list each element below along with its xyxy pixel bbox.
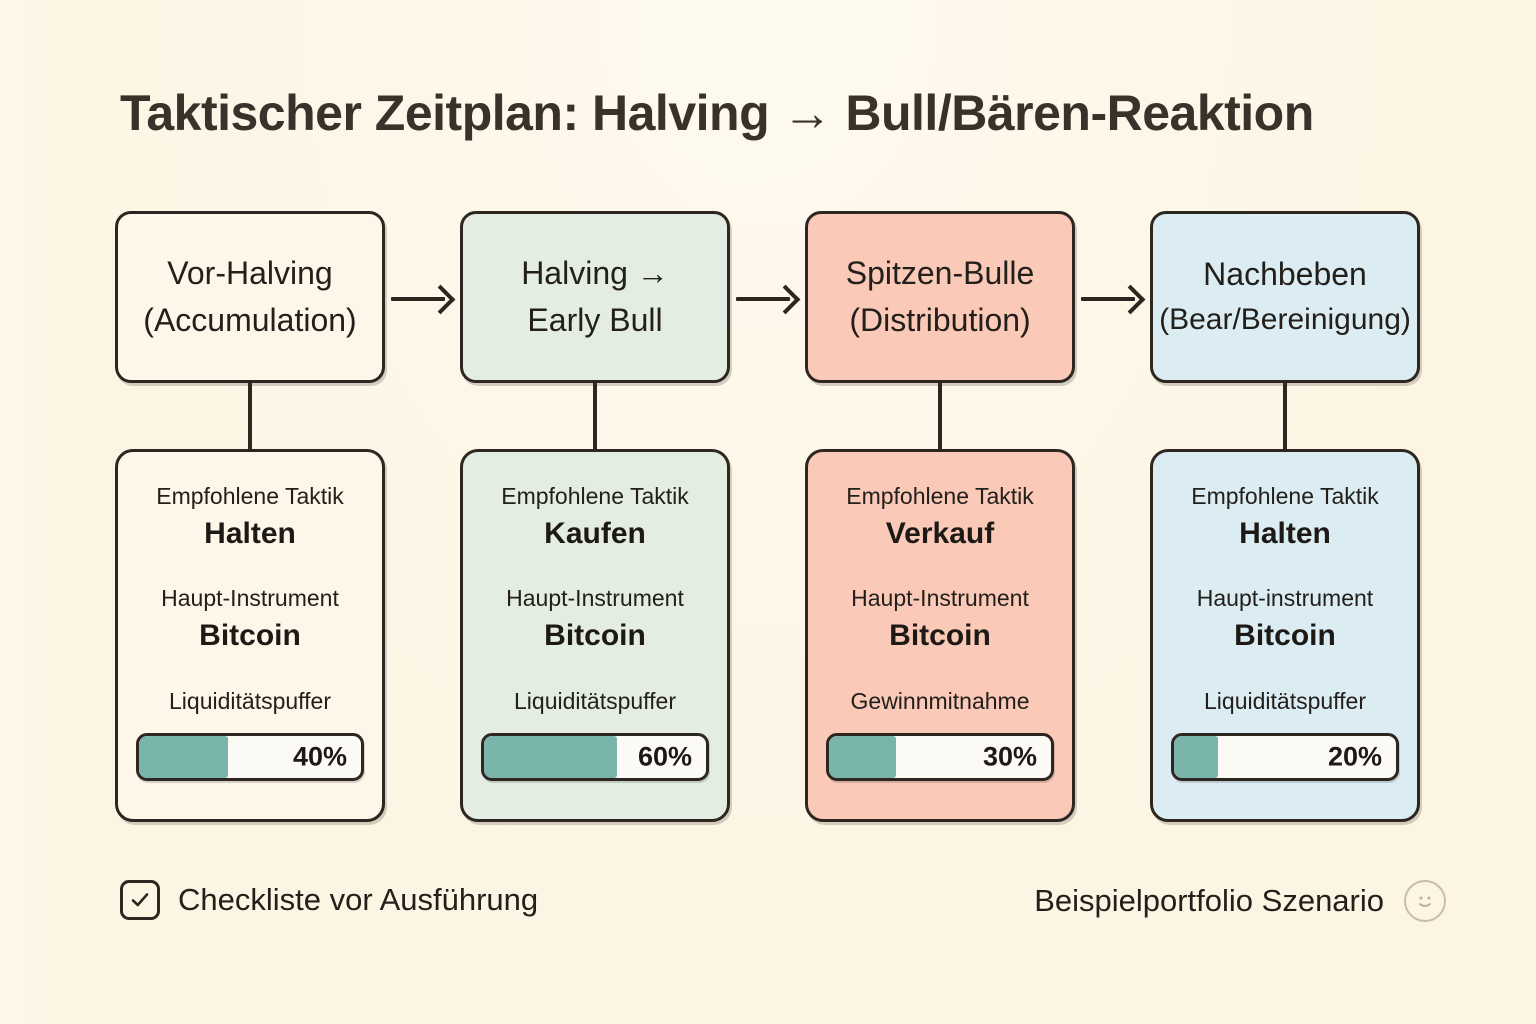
detail-card-spitzen-bulle[interactable]: Empfohlene Taktik Verkauf Haupt-Instrume… (805, 449, 1075, 822)
detail-card-halving-early-bull[interactable]: Empfohlene Taktik Kaufen Haupt-Instrumen… (460, 449, 730, 822)
instrument-label: Haupt-instrument (1197, 584, 1373, 614)
connector-line-3 (938, 383, 942, 451)
tactic-label: Empfohlene Taktik (846, 482, 1034, 512)
footer-scenario-item[interactable]: Beispielportfolio Szenario (1034, 880, 1446, 922)
phase-title-line2: (Distribution) (849, 298, 1030, 343)
buffer-percent-label: 20% (1328, 741, 1382, 772)
instrument-value: Bitcoin (889, 616, 991, 657)
phase-title-line1: Halving → (521, 251, 669, 296)
flow-arrow-2-icon (736, 297, 802, 299)
tactic-label: Empfohlene Taktik (1191, 482, 1379, 512)
instrument-value: Bitcoin (544, 616, 646, 657)
smiley-face-icon (1404, 880, 1446, 922)
buffer-percent-label: 40% (293, 741, 347, 772)
connector-line-1 (248, 383, 252, 451)
tactic-value: Halten (204, 514, 296, 555)
phase-title-line2: (Bear/Bereinigung) (1159, 299, 1411, 342)
buffer-progress-bar[interactable]: 20% (1171, 733, 1399, 781)
checkbox-checked-icon[interactable] (120, 880, 160, 920)
flow-arrow-1-icon (391, 297, 457, 299)
phase-title-line1: Spitzen-Bulle (846, 251, 1035, 296)
page-title: Taktischer Zeitplan: Halving → Bull/Bäre… (120, 84, 1450, 142)
flow-arrow-3-icon (1081, 297, 1147, 299)
phase-title-line2: Early Bull (527, 298, 662, 343)
tactic-value: Kaufen (544, 514, 646, 555)
buffer-progress-bar[interactable]: 30% (826, 733, 1054, 781)
connector-line-4 (1283, 383, 1287, 451)
detail-card-nachbeben[interactable]: Empfohlene Taktik Halten Haupt-instrumen… (1150, 449, 1420, 822)
buffer-percent-label: 30% (983, 741, 1037, 772)
buffer-progress-fill (484, 736, 617, 778)
instrument-value: Bitcoin (199, 616, 301, 657)
buffer-label: Liquiditätspuffer (514, 687, 676, 717)
buffer-label: Liquiditätspuffer (1204, 687, 1366, 717)
phase-title-line1: Vor-Halving (167, 251, 332, 296)
footer-right-label: Beispielportfolio Szenario (1034, 883, 1384, 919)
tactic-value: Verkauf (886, 514, 994, 555)
buffer-progress-fill (829, 736, 896, 778)
phase-box-spitzen-bulle[interactable]: Spitzen-Bulle (Distribution) (805, 211, 1075, 383)
phase-row: Vor-Halving (Accumulation) Halving → Ear… (115, 211, 1415, 383)
phase-box-vor-halving[interactable]: Vor-Halving (Accumulation) (115, 211, 385, 383)
tactic-label: Empfohlene Taktik (156, 482, 344, 512)
instrument-label: Haupt-Instrument (161, 584, 339, 614)
phase-title-line1: Nachbeben (1203, 252, 1367, 297)
footer: Checkliste vor Ausführung Beispielportfo… (120, 880, 1446, 936)
footer-checklist-item[interactable]: Checkliste vor Ausführung (120, 880, 538, 920)
phase-title-line2: (Accumulation) (143, 298, 356, 343)
instrument-label: Haupt-Instrument (506, 584, 684, 614)
tactic-label: Empfohlene Taktik (501, 482, 689, 512)
detail-card-vor-halving[interactable]: Empfohlene Taktik Halten Haupt-Instrumen… (115, 449, 385, 822)
phase-box-halving-early-bull[interactable]: Halving → Early Bull (460, 211, 730, 383)
buffer-label: Liquiditätspuffer (169, 687, 331, 717)
phase-box-nachbeben[interactable]: Nachbeben (Bear/Bereinigung) (1150, 211, 1420, 383)
buffer-label: Gewinnmitnahme (851, 687, 1030, 717)
buffer-progress-bar[interactable]: 40% (136, 733, 364, 781)
connector-line-2 (593, 383, 597, 451)
buffer-percent-label: 60% (638, 741, 692, 772)
instrument-label: Haupt-Instrument (851, 584, 1029, 614)
buffer-progress-bar[interactable]: 60% (481, 733, 709, 781)
detail-card-row: Empfohlene Taktik Halten Haupt-Instrumen… (115, 449, 1415, 822)
tactic-value: Halten (1239, 514, 1331, 555)
buffer-progress-fill (1174, 736, 1218, 778)
buffer-progress-fill (139, 736, 228, 778)
instrument-value: Bitcoin (1234, 616, 1336, 657)
infographic-stage: Taktischer Zeitplan: Halving → Bull/Bäre… (0, 0, 1536, 1024)
footer-left-label: Checkliste vor Ausführung (178, 882, 538, 918)
